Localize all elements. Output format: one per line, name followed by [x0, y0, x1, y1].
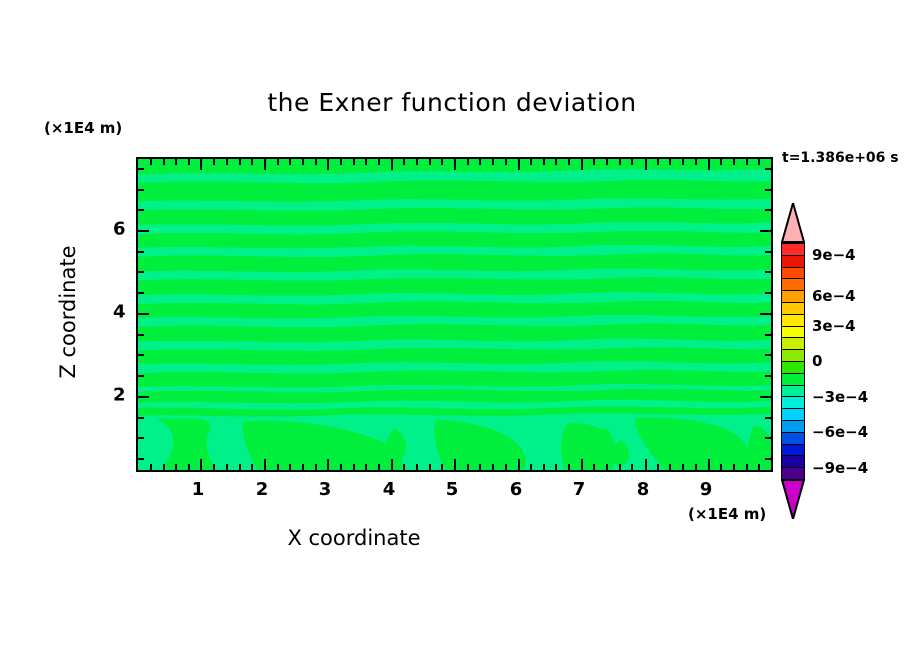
x-tick-top-major [391, 159, 393, 170]
y-tick-minor [138, 437, 144, 439]
x-tick-top-minor [682, 159, 684, 165]
timestamp-annotation: t=1.386e+06 s [782, 150, 899, 166]
z-axis-title: Z coordinate [56, 232, 80, 392]
x-tick-top-minor [188, 159, 190, 165]
y-tick-minor [138, 189, 144, 191]
x-tick-minor [543, 464, 545, 470]
y-tick-minor [138, 375, 144, 377]
y-tick-right-minor [765, 417, 771, 419]
x-tick-minor [163, 464, 165, 470]
y-tick-label: 2 [113, 385, 126, 406]
x-tick-major [581, 459, 583, 470]
y-tick-right-minor [765, 251, 771, 253]
y-tick-right-minor [765, 437, 771, 439]
x-tick-top-minor [631, 159, 633, 165]
colorbar-under-arrow [781, 479, 805, 519]
x-tick-top-minor [555, 159, 557, 165]
x-tick-top-minor [365, 159, 367, 165]
x-tick-top-minor [669, 159, 671, 165]
x-tick-top-minor [277, 159, 279, 165]
x-tick-major [264, 459, 266, 470]
x-tick-top-minor [746, 159, 748, 165]
x-tick-label: 6 [510, 479, 523, 500]
x-tick-top-minor [657, 159, 659, 165]
x-tick-minor [682, 464, 684, 470]
x-tick-top-minor [543, 159, 545, 165]
x-tick-minor [492, 464, 494, 470]
y-tick-minor [138, 168, 144, 170]
x-tick-minor [606, 464, 608, 470]
x-tick-top-minor [163, 159, 165, 165]
x-tick-top-minor [733, 159, 735, 165]
x-tick-minor [302, 464, 304, 470]
x-tick-top-minor [568, 159, 570, 165]
y-tick-right-minor [765, 334, 771, 336]
x-tick-top-minor [315, 159, 317, 165]
x-axis-unit-label: (×1E4 m) [688, 505, 766, 523]
x-tick-top-minor [213, 159, 215, 165]
x-tick-label: 9 [700, 479, 713, 500]
x-tick-top-minor [150, 159, 152, 165]
x-tick-minor [315, 464, 317, 470]
x-tick-major [518, 459, 520, 470]
x-tick-minor [631, 464, 633, 470]
x-tick-label: 8 [637, 479, 650, 500]
x-tick-major [454, 459, 456, 470]
x-tick-minor [429, 464, 431, 470]
colorbar [781, 243, 805, 479]
x-tick-major [391, 459, 393, 470]
x-tick-top-minor [695, 159, 697, 165]
y-tick-minor [138, 354, 144, 356]
x-tick-minor [175, 464, 177, 470]
y-tick-right-minor [765, 209, 771, 211]
y-tick-label: 6 [113, 219, 126, 240]
x-tick-top-minor [441, 159, 443, 165]
y-tick-minor [138, 292, 144, 294]
x-tick-minor [530, 464, 532, 470]
x-tick-top-minor [467, 159, 469, 165]
x-tick-top-minor [758, 159, 760, 165]
x-tick-minor [239, 464, 241, 470]
y-tick-right-minor [765, 458, 771, 460]
x-tick-minor [353, 464, 355, 470]
colorbar-tick-label: 0 [812, 352, 822, 370]
x-tick-top-minor [239, 159, 241, 165]
x-tick-minor [213, 464, 215, 470]
x-tick-top-minor [226, 159, 228, 165]
x-tick-label: 2 [256, 479, 269, 500]
x-tick-top-minor [340, 159, 342, 165]
x-tick-top-major [264, 159, 266, 170]
y-tick-right-major [760, 313, 771, 315]
y-tick-minor [138, 271, 144, 273]
x-tick-major [645, 459, 647, 470]
x-tick-label: 7 [573, 479, 586, 500]
y-tick-major [138, 396, 149, 398]
y-tick-right-minor [765, 354, 771, 356]
y-tick-right-minor [765, 271, 771, 273]
y-tick-minor [138, 334, 144, 336]
y-tick-minor [138, 251, 144, 253]
x-tick-top-minor [479, 159, 481, 165]
colorbar-tick-label: −9e−4 [812, 459, 868, 477]
x-tick-minor [378, 464, 380, 470]
x-tick-minor [467, 464, 469, 470]
z-axis-unit-label: (×1E4 m) [44, 119, 122, 137]
page-title: the Exner function deviation [0, 88, 904, 117]
x-tick-minor [619, 464, 621, 470]
y-tick-right-major [760, 396, 771, 398]
colorbar-over-arrow [781, 203, 805, 243]
x-tick-minor [568, 464, 570, 470]
x-tick-minor [555, 464, 557, 470]
x-tick-minor [505, 464, 507, 470]
x-tick-major [200, 459, 202, 470]
x-tick-minor [277, 464, 279, 470]
x-axis-title: X coordinate [0, 526, 904, 550]
x-tick-label: 4 [383, 479, 396, 500]
x-tick-top-minor [378, 159, 380, 165]
x-tick-label: 3 [319, 479, 332, 500]
x-tick-minor [150, 464, 152, 470]
x-tick-top-minor [593, 159, 595, 165]
x-tick-top-minor [289, 159, 291, 165]
x-tick-minor [479, 464, 481, 470]
x-tick-minor [657, 464, 659, 470]
x-tick-top-minor [530, 159, 532, 165]
x-tick-minor [758, 464, 760, 470]
y-tick-major [138, 313, 149, 315]
x-tick-top-minor [429, 159, 431, 165]
contour-field [138, 159, 771, 470]
y-tick-right-minor [765, 292, 771, 294]
y-tick-right-minor [765, 168, 771, 170]
x-tick-minor [403, 464, 405, 470]
y-tick-minor [138, 417, 144, 419]
colorbar-tick-label: 9e−4 [812, 246, 856, 264]
x-tick-top-minor [720, 159, 722, 165]
x-tick-minor [746, 464, 748, 470]
colorbar-tick-label: 6e−4 [812, 287, 856, 305]
x-tick-top-minor [251, 159, 253, 165]
x-tick-top-major [645, 159, 647, 170]
y-tick-major [138, 230, 149, 232]
x-tick-top-minor [606, 159, 608, 165]
y-tick-minor [138, 209, 144, 211]
x-tick-minor [669, 464, 671, 470]
x-tick-top-major [327, 159, 329, 170]
x-tick-minor [188, 464, 190, 470]
x-tick-top-minor [175, 159, 177, 165]
x-tick-minor [416, 464, 418, 470]
x-tick-major [327, 459, 329, 470]
x-tick-top-major [454, 159, 456, 170]
y-tick-right-major [760, 230, 771, 232]
x-tick-top-minor [353, 159, 355, 165]
x-tick-top-minor [302, 159, 304, 165]
x-tick-minor [695, 464, 697, 470]
x-tick-top-major [581, 159, 583, 170]
y-tick-minor [138, 458, 144, 460]
y-tick-right-minor [765, 189, 771, 191]
x-tick-minor [365, 464, 367, 470]
x-tick-top-minor [492, 159, 494, 165]
x-tick-top-minor [505, 159, 507, 165]
x-tick-minor [593, 464, 595, 470]
colorbar-tick-label: −3e−4 [812, 388, 868, 406]
colorbar-tick-label: −6e−4 [812, 423, 868, 441]
x-tick-top-minor [403, 159, 405, 165]
colorbar-tick-label: 3e−4 [812, 317, 856, 335]
y-tick-right-minor [765, 375, 771, 377]
x-tick-top-major [200, 159, 202, 170]
x-tick-label: 1 [192, 479, 205, 500]
x-tick-label: 5 [446, 479, 459, 500]
x-tick-minor [251, 464, 253, 470]
y-tick-label: 4 [113, 302, 126, 323]
x-tick-top-minor [619, 159, 621, 165]
x-tick-minor [733, 464, 735, 470]
x-tick-top-minor [416, 159, 418, 165]
contour-plot-area [136, 157, 773, 472]
x-tick-minor [720, 464, 722, 470]
x-tick-minor [340, 464, 342, 470]
x-tick-minor [289, 464, 291, 470]
x-tick-minor [441, 464, 443, 470]
x-axis-title-text: X coordinate [287, 526, 420, 550]
x-tick-top-major [518, 159, 520, 170]
figure-canvas: the Exner function deviation (×1E4 m) (×… [0, 0, 904, 654]
x-tick-major [708, 459, 710, 470]
x-tick-minor [226, 464, 228, 470]
x-tick-top-major [708, 159, 710, 170]
